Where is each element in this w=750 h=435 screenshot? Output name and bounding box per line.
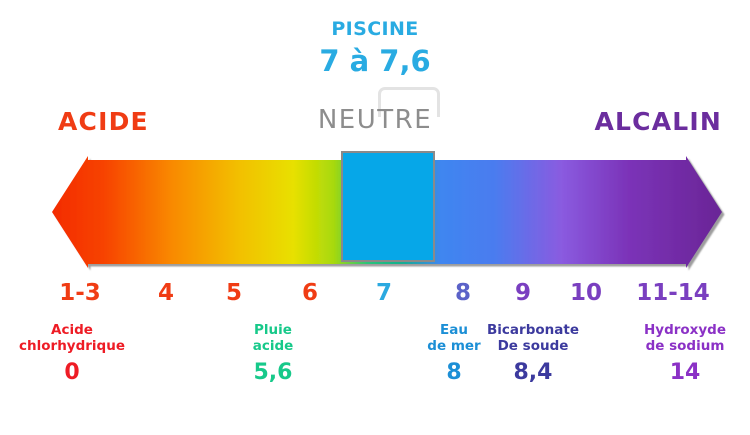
substance-ph-value: 8,4	[487, 361, 579, 385]
substance-callout: Pluieacide5,6	[253, 322, 294, 385]
ph-number: 7	[376, 280, 392, 306]
ph-number: 4	[158, 280, 174, 306]
substance-name: Eaude mer	[427, 322, 480, 354]
substance-ph-value: 14	[644, 361, 726, 385]
substance-ph-value: 0	[19, 361, 125, 385]
substance-name: BicarbonateDe soude	[487, 322, 579, 354]
piscine-title: PISCINE	[0, 18, 750, 40]
piscine-range-value: 7 à 7,6	[0, 44, 750, 78]
ph-scale-diagram: PISCINE 7 à 7,6 NEUTRE ACIDE ALCALIN 1-3…	[0, 0, 750, 435]
substance-callout: BicarbonateDe soude8,4	[487, 322, 579, 385]
substance-name: Hydroxydede sodium	[644, 322, 726, 354]
alcalin-caption: ALCALIN	[594, 107, 722, 136]
ph-number: 11-14	[636, 280, 710, 306]
substance-name: Acidechlorhydrique	[19, 322, 125, 354]
acide-caption: ACIDE	[58, 107, 149, 136]
ph-number: 6	[302, 280, 318, 306]
substance-callout: Acidechlorhydrique0	[19, 322, 125, 385]
neutral-ph-box	[341, 151, 435, 262]
ph-number: 8	[455, 280, 471, 306]
ph-number: 1-3	[59, 280, 101, 306]
substance-ph-value: 8	[427, 361, 480, 385]
ph-number: 9	[515, 280, 531, 306]
substance-ph-value: 5,6	[253, 361, 294, 385]
ph-number: 5	[226, 280, 242, 306]
ph-number: 10	[570, 280, 602, 306]
substance-callout: Eaude mer8	[427, 322, 480, 385]
substance-callout: Hydroxydede sodium14	[644, 322, 726, 385]
substance-name: Pluieacide	[253, 322, 294, 354]
